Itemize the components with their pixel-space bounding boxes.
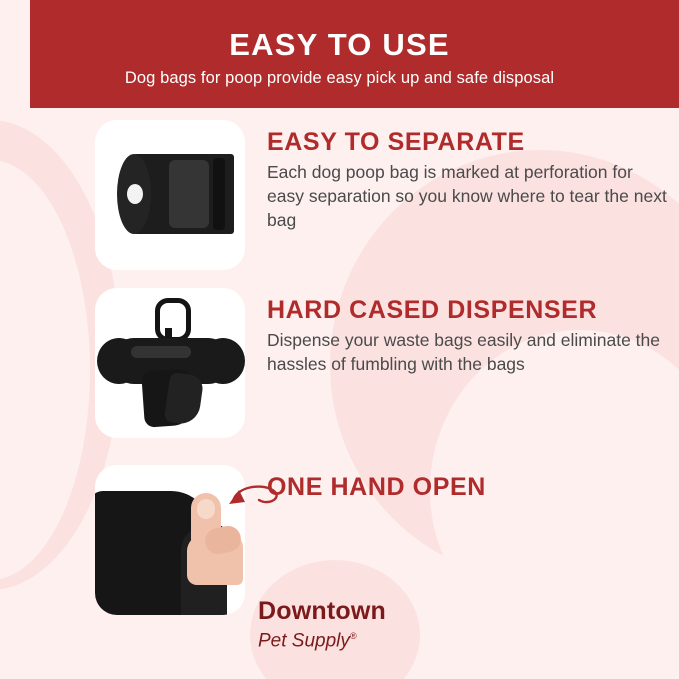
registered-mark: ® xyxy=(350,631,357,641)
feature-title-3: ONE HAND OPEN xyxy=(267,473,667,501)
feature-body-1: Each dog poop bag is marked at perforati… xyxy=(267,160,667,232)
feature-image-roll xyxy=(95,120,245,270)
feature-body-2: Dispense your waste bags easily and elim… xyxy=(267,328,667,376)
feature-row-2: HARD CASED DISPENSER Dispense your waste… xyxy=(95,288,667,438)
page-title: EASY TO USE xyxy=(0,28,679,62)
infographic-page: EASY TO USE Dog bags for poop provide ea… xyxy=(0,0,679,679)
pointer-arrow-icon xyxy=(225,480,295,520)
page-subtitle: Dog bags for poop provide easy pick up a… xyxy=(0,69,679,88)
logo-line-2: Pet Supply xyxy=(258,630,350,651)
brand-logo: Downtown Pet Supply® xyxy=(258,598,498,652)
feature-image-hand xyxy=(95,465,245,615)
feature-title-2: HARD CASED DISPENSER xyxy=(267,296,667,324)
feature-text-1: EASY TO SEPARATE Each dog poop bag is ma… xyxy=(267,120,667,232)
carabiner-clip-icon xyxy=(155,298,191,342)
header-banner: EASY TO USE Dog bags for poop provide ea… xyxy=(0,0,679,108)
feature-title-1: EASY TO SEPARATE xyxy=(267,128,667,156)
roll-illustration xyxy=(109,154,234,234)
feature-text-3: ONE HAND OPEN xyxy=(267,465,667,505)
feature-image-dispenser xyxy=(95,288,245,438)
logo-line-1: Downtown xyxy=(258,598,498,625)
feature-row-3: ONE HAND OPEN xyxy=(95,465,667,615)
feature-text-2: HARD CASED DISPENSER Dispense your waste… xyxy=(267,288,667,376)
feature-row-1: EASY TO SEPARATE Each dog poop bag is ma… xyxy=(95,120,667,270)
